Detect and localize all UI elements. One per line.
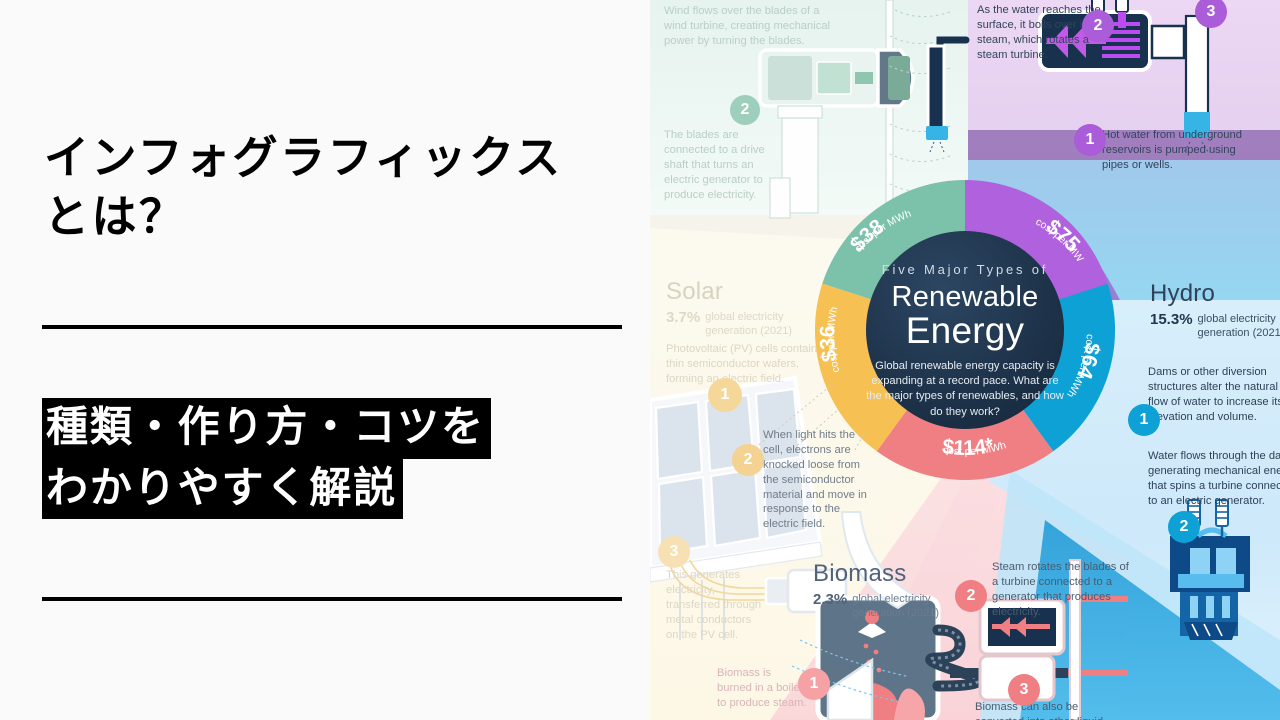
hydro-step-2-badge: 2 [1168,511,1200,543]
hub-description: Global renewable energy capacity is expa… [866,359,1064,420]
solar-step-2-badge: 2 [732,444,764,476]
left-title-panel: インフォグラフィックス とは？ 種類・作り方・コツを わかりやすく解説 [0,0,650,720]
page-subtitle: 種類・作り方・コツを わかりやすく解説 [42,398,642,519]
biomass-section-header: Biomass 2.3% global electricity generati… [813,560,944,621]
geothermal-step-2-badge: 2 [1082,10,1114,42]
geothermal-step-1-badge: 1 [1074,124,1106,156]
biomass-label: Biomass [813,560,944,588]
page-title-line-2: とは？ [44,187,644,246]
solar-step-3-badge: 3 [658,536,690,568]
page-title: インフォグラフィックス とは？ [44,128,644,247]
page-subtitle-row-1: 種類・作り方・コツを [42,398,642,459]
solar-step-3-text: This generates electricity, transferred … [666,568,762,642]
hydro-step-1-text: Dams or other diversion structures alter… [1148,365,1280,425]
page-subtitle-line-1: 種類・作り方・コツを [42,398,491,459]
biomass-step-1-badge: 1 [798,668,830,700]
biomass-step-2-badge: 2 [955,580,987,612]
divider-bottom [42,597,622,601]
hydro-percent-note: global electricity generation (2021) [1198,311,1280,341]
screenshot-root: インフォグラフィックス とは？ 種類・作り方・コツを わかりやすく解説 [0,0,1280,720]
hydro-step-2-text: Water flows through the dam, generating … [1148,449,1280,509]
biomass-step-1-text: Biomass is burned in a boiler to produce… [717,666,809,711]
solar-step-1-text: Photovoltaic (PV) cells contain thin sem… [666,342,818,387]
solar-percent-note: global electricity generation (2021) [705,309,797,339]
page-title-line-1: インフォグラフィックス [44,128,644,187]
solar-percent: 3.7% [666,309,700,326]
infographic-panel: $38 cost per MWh $75 cost per MWh $64 co… [650,0,1280,720]
solar-step-1-badge: 1 [708,378,742,412]
wind-step-1-text: Wind flows over the blades of a wind tur… [664,4,834,49]
hydro-section-header: Hydro 15.3% global electricity generatio… [1150,280,1280,341]
hub-title-line-2: Energy [866,310,1064,352]
geothermal-step-1-text: Hot water from underground reservoirs is… [1102,128,1262,173]
solar-label: Solar [666,278,797,306]
solar-section-header: Solar 3.7% global electricity generation… [666,278,797,339]
solar-step-2-text: When light hits the cell, electrons are … [763,428,868,532]
hub-kicker: Five Major Types of [866,262,1064,277]
biomass-percent: 2.3% [813,591,847,608]
biomass-percent-note: global electricity generation (2021) [852,591,944,621]
hydro-percent: 15.3% [1150,311,1193,328]
hub-text-block: Five Major Types of Renewable Energy Glo… [866,262,1064,420]
biomass-step-3-badge: 3 [1008,674,1040,706]
page-subtitle-line-2: わかりやすく解説 [42,459,403,520]
biomass-step-2-text: Steam rotates the blades of a turbine co… [992,560,1134,620]
wind-step-2-badge: 2 [730,95,760,125]
biomass-step-3-text: Biomass can also be converted into other… [975,700,1115,720]
hydro-label: Hydro [1150,280,1280,308]
hydro-step-1-badge: 1 [1128,404,1160,436]
page-subtitle-row-2: わかりやすく解説 [42,459,642,520]
divider-top [42,325,622,329]
wind-step-2-text: The blades are connected to a drive shaf… [664,128,784,202]
